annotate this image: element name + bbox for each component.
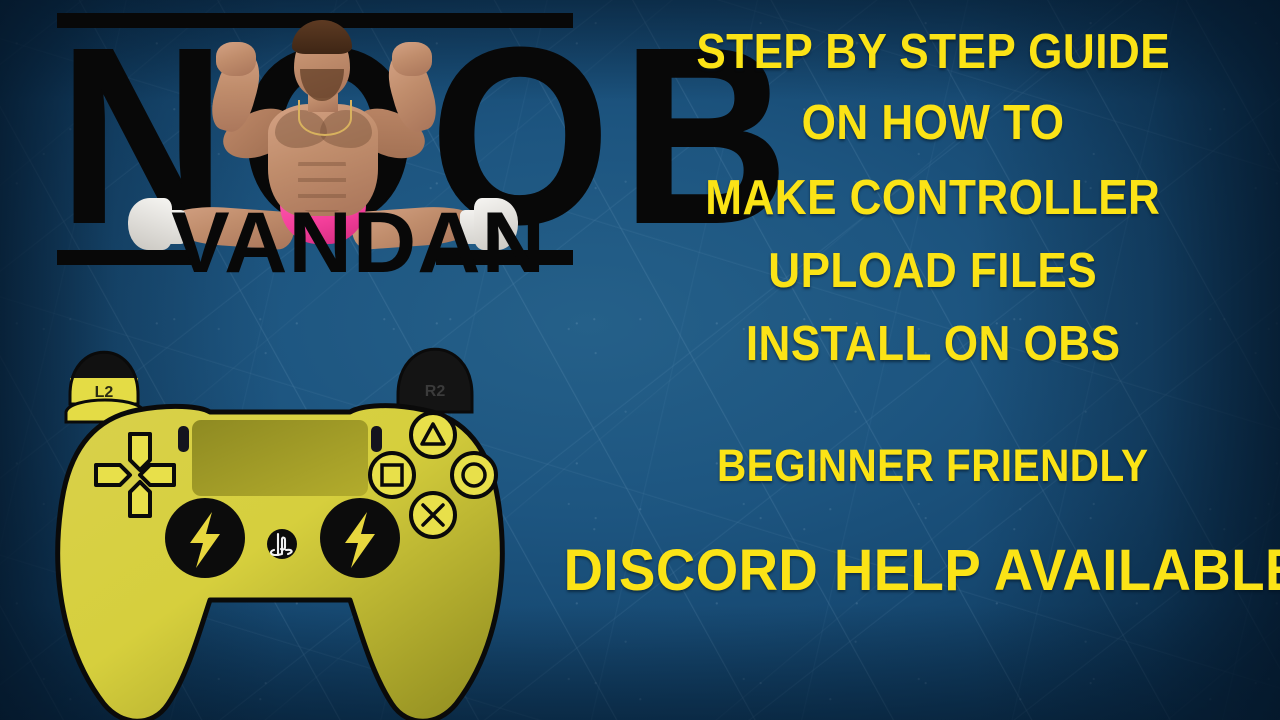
dpad-left-icon bbox=[96, 465, 130, 485]
touchpad[interactable] bbox=[192, 420, 368, 496]
ps-controller-illustration: L2 R2 bbox=[20, 300, 540, 720]
button-cross[interactable] bbox=[411, 493, 455, 537]
button-circle[interactable] bbox=[452, 453, 496, 497]
trigger-l2-label: L2 bbox=[95, 384, 114, 401]
copy-line-2: ON HOW TO bbox=[802, 99, 1065, 148]
light-bar-right bbox=[371, 426, 382, 452]
copy-line-1: STEP BY STEP GUIDE bbox=[696, 28, 1170, 77]
dpad-down-icon bbox=[130, 482, 150, 516]
trigger-r2[interactable]: R2 bbox=[398, 349, 472, 412]
thumbnail-canvas: N O O B bbox=[0, 0, 1280, 720]
copy-footer-line-2: DISCORD HELP AVAILABLE bbox=[564, 542, 1280, 600]
copy-line-3: MAKE CONTROLLER bbox=[705, 174, 1160, 223]
channel-logo: N O O B bbox=[52, 4, 577, 289]
ps-button[interactable] bbox=[267, 529, 297, 559]
logo-wordmark-vandan: VANDAN bbox=[171, 200, 467, 286]
dpad-up-icon bbox=[130, 434, 150, 470]
button-square[interactable] bbox=[370, 453, 414, 497]
light-bar-left bbox=[178, 426, 189, 452]
copy-line-4: UPLOAD FILES bbox=[769, 247, 1098, 296]
copy-footer-line-1: BEGINNER FRIENDLY bbox=[717, 443, 1148, 488]
thumbnail-copy-block: STEP BY STEP GUIDE ON HOW TO MAKE CONTRO… bbox=[586, 0, 1280, 720]
copy-line-5: INSTALL ON OBS bbox=[746, 320, 1121, 369]
trigger-r2-label: R2 bbox=[425, 383, 446, 400]
left-stick[interactable] bbox=[165, 498, 245, 578]
button-triangle[interactable] bbox=[411, 413, 455, 457]
right-stick[interactable] bbox=[320, 498, 400, 578]
dpad-right-icon bbox=[140, 465, 174, 485]
